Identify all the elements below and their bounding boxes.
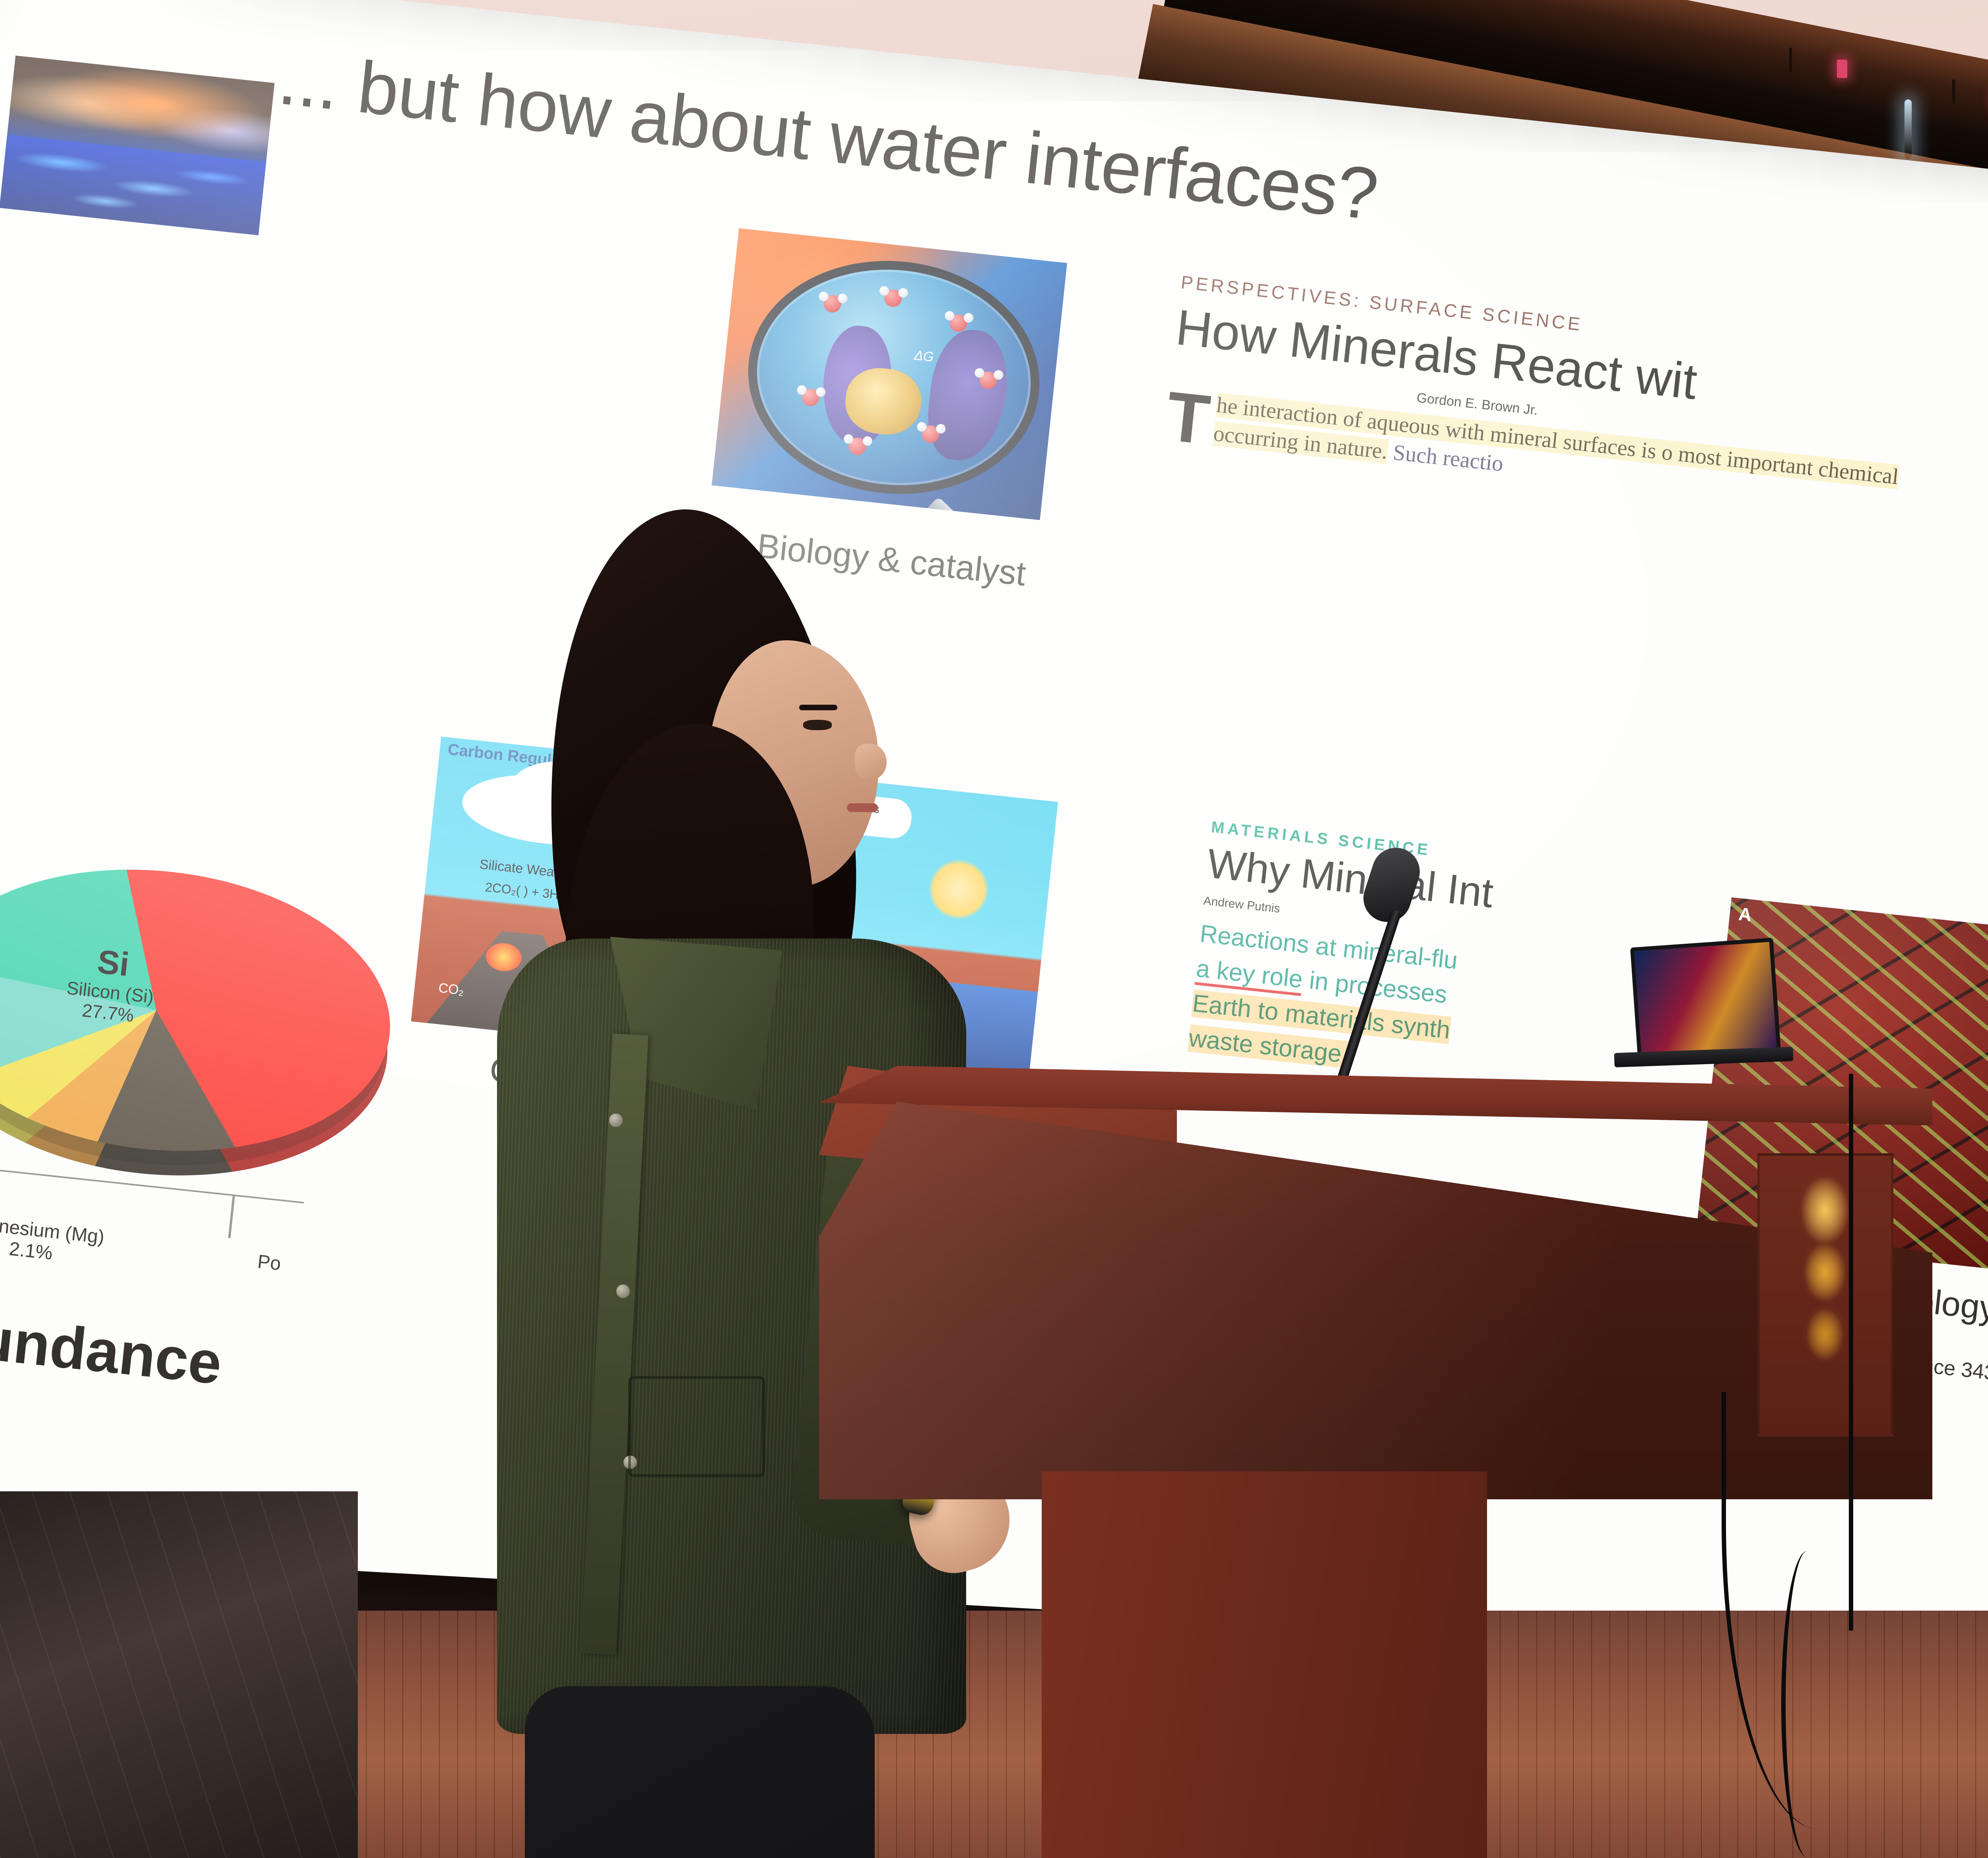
pie-label-potassium: Po (256, 1251, 282, 1275)
abundance-title: Abundance (0, 1295, 225, 1398)
spotlight-beam (1905, 99, 1912, 159)
audio-cable (1781, 1551, 1833, 1857)
science-article-how-minerals: PERSPECTIVES: SURFACE SCIENCE How Minera… (1149, 271, 1988, 684)
delta-g-label: ΔG (913, 348, 934, 365)
eye (803, 720, 832, 730)
protein-blob-right (924, 326, 1013, 464)
water-molecule (823, 294, 842, 313)
water-molecule (883, 289, 903, 308)
cave-water-photo (0, 56, 274, 235)
jacket-button (609, 1114, 623, 1127)
rig-drop (1952, 80, 1955, 103)
water-molecule (848, 437, 867, 456)
water-molecule (949, 313, 968, 332)
ground-co2-label: CO₂ (438, 980, 465, 999)
magnifier-lens: ΔG (736, 247, 1051, 508)
article-dropcap: T (1164, 387, 1212, 449)
photo-scene: ... but how about water interfaces? (0, 0, 1988, 1858)
afm-panel-letter: A (1738, 903, 1753, 926)
nose (855, 744, 887, 779)
pie-3d-top (0, 847, 404, 1173)
pie-mg-percent: 2.1% (8, 1238, 53, 1264)
stage-lamp (1837, 60, 1847, 78)
jacket-button (616, 1285, 630, 1298)
abundance-pie-chart: Si Silicon (Si) 27.7% Iron (Fe) 5.0% Mag… (0, 847, 436, 1272)
pie-label-silicon: Si Silicon (Si) 27.7% (64, 939, 159, 1028)
cave-water-region (0, 135, 266, 235)
rig-drop (1789, 48, 1792, 72)
lips (847, 803, 878, 812)
marble-wall-panel (0, 1491, 358, 1858)
pie-leader-fe (0, 1166, 304, 1204)
pie-leader-mg (228, 1194, 235, 1238)
jacket-pocket (628, 1376, 765, 1477)
pie-k-name: Po (256, 1251, 282, 1275)
podium-column (1042, 1471, 1487, 1858)
magnifier-illustration: ΔG (712, 228, 1067, 520)
eyebrow (799, 705, 837, 710)
water-molecule (801, 388, 820, 407)
pie-label-magnesium: Magnesium (Mg) 2.1% (0, 1212, 105, 1269)
laptop-screen[interactable] (1630, 938, 1781, 1067)
